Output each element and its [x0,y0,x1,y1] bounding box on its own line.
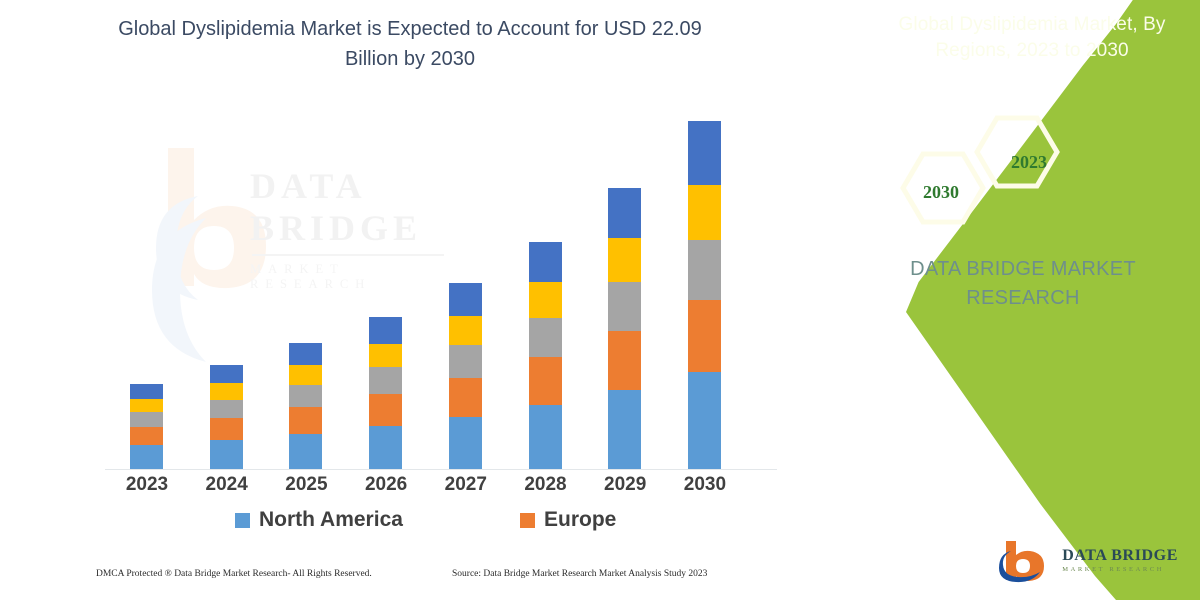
hexagon-badge-2030-label: 2030 [923,182,959,203]
x-tick-2026: 2026 [351,474,421,496]
bar-segment-2030-europe [688,300,721,372]
bar-segment-2025-series-3 [289,385,322,407]
bar-segment-2024-north-america [210,440,243,469]
footer-dmca-text: DMCA Protected ® Data Bridge Market Rese… [96,569,372,579]
data-bridge-b-mark-icon [996,538,1054,584]
bar-2029 [608,188,641,469]
x-axis-line [105,469,777,470]
bar-2030 [688,121,721,469]
bar-segment-2023-series-5 [130,384,163,399]
x-tick-2025: 2025 [271,474,341,496]
bar-2028 [529,242,562,469]
legend-swatch-icon [235,513,250,528]
hexagon-outline-icon [885,110,1105,230]
bar-segment-2025-europe [289,407,322,434]
bar-2027 [449,283,482,469]
bar-segment-2029-europe [608,331,641,390]
bar-segment-2027-series-3 [449,345,482,377]
logo-text: DATA BRIDGE MARKET RESEARCH [1062,548,1178,574]
bar-segment-2030-series-4 [688,185,721,239]
x-tick-2023: 2023 [112,474,182,496]
x-tick-2028: 2028 [511,474,581,496]
bar-segment-2027-north-america [449,417,482,469]
bar-segment-2030-series-3 [688,240,721,300]
x-tick-2024: 2024 [192,474,262,496]
bar-segment-2025-series-4 [289,365,322,385]
bar-segment-2024-series-3 [210,400,243,418]
page-title: Global Dyslipidemia Market is Expected t… [110,14,710,74]
bar-segment-2026-europe [369,394,402,426]
bar-segment-2029-north-america [608,390,641,469]
chart-legend: North AmericaEurope [105,508,785,540]
panel-title: Global Dyslipidemia Market, By Regions, … [882,12,1182,63]
bar-segment-2026-series-3 [369,367,402,394]
footer-source-text: Source: Data Bridge Market Research Mark… [452,569,707,579]
bar-segment-2028-series-3 [529,318,562,357]
infographic-canvas: DATA BRIDGE MARKET RESEARCH Global Dysli… [0,0,1200,600]
bar-segment-2023-series-4 [130,399,163,412]
bar-segment-2027-series-5 [449,283,482,316]
bar-segment-2028-north-america [529,405,562,469]
bar-segment-2027-series-4 [449,316,482,345]
bar-segment-2023-series-3 [130,412,163,427]
x-axis-tick-labels: 20232024202520262027202820292030 [105,474,785,504]
bar-segment-2023-europe [130,427,163,445]
bar-segment-2029-series-3 [608,282,641,331]
bar-segment-2030-north-america [688,372,721,469]
bar-segment-2024-series-5 [210,365,243,383]
hexagon-badge-2023-label: 2023 [1011,152,1047,173]
bar-segment-2025-series-5 [289,343,322,365]
bar-segment-2026-north-america [369,426,402,469]
bar-segment-2027-europe [449,378,482,417]
x-tick-2027: 2027 [431,474,501,496]
bar-2025 [289,343,322,469]
logo-subtitle: MARKET RESEARCH [1062,567,1178,574]
bar-segment-2024-europe [210,418,243,440]
bar-segment-2028-series-4 [529,282,562,317]
bar-segment-2028-europe [529,357,562,405]
bar-segment-2025-north-america [289,434,322,469]
bar-segment-2029-series-5 [608,188,641,238]
footer: DMCA Protected ® Data Bridge Market Rese… [0,566,800,590]
legend-label: North America [259,508,403,532]
bar-segment-2026-series-4 [369,344,402,368]
panel-brand-text: DATA BRIDGE MARKET RESEARCH [878,255,1168,313]
legend-label: Europe [544,508,616,532]
x-tick-2030: 2030 [670,474,740,496]
bar-segment-2023-north-america [130,445,163,469]
bar-2026 [369,317,402,469]
bar-2024 [210,365,243,469]
bar-segment-2030-series-5 [688,121,721,185]
bar-segment-2028-series-5 [529,242,562,282]
data-bridge-logo: DATA BRIDGE MARKET RESEARCH [996,538,1178,584]
bar-segment-2029-series-4 [608,238,641,282]
legend-item-europe[interactable]: Europe [520,508,616,532]
bar-2023 [130,384,163,469]
bar-segment-2026-series-5 [369,317,402,344]
x-tick-2029: 2029 [590,474,660,496]
legend-swatch-icon [520,513,535,528]
hexagon-badges: 2023 2030 [885,110,1105,230]
logo-title: DATA BRIDGE [1062,548,1178,564]
bar-chart-plot [105,120,785,470]
bar-segment-2024-series-4 [210,383,243,400]
legend-item-north-america[interactable]: North America [235,508,403,532]
